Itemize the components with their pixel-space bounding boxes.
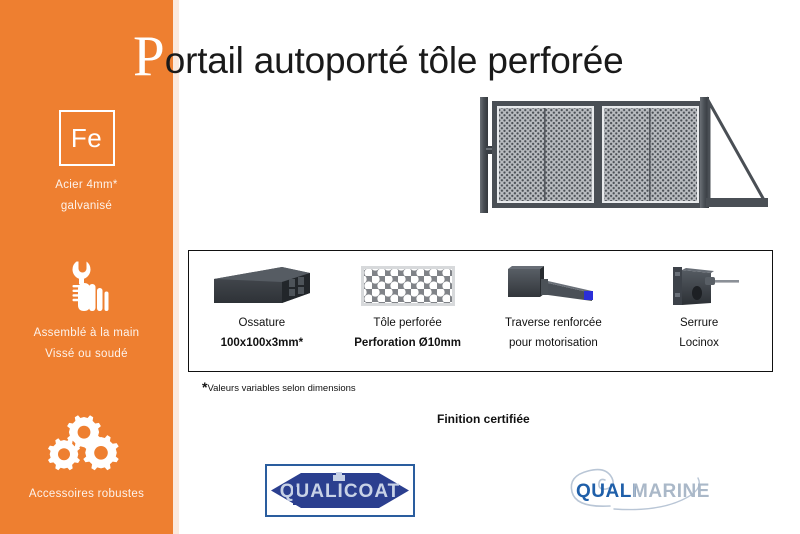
gate-counterweight-diagonal <box>709 102 764 200</box>
svg-text:QUALICOAT: QUALICOAT <box>280 481 401 502</box>
feature-ossature-spec: 100x100x3mm* <box>221 335 304 352</box>
sidebar-item-assembly: Assemblé à la main Vissé ou soudé <box>0 258 173 365</box>
frame-profile-icon <box>210 260 314 312</box>
fe-symbol: Fe <box>71 125 102 151</box>
feature-serrure-spec: Locinox <box>679 335 719 352</box>
cantilever-sliding-gate-illustration <box>472 88 790 218</box>
footnote: *Valeurs variables selon dimensions <box>202 379 356 395</box>
gears-icon <box>44 415 130 477</box>
gate-bottom-rail <box>706 198 768 207</box>
feature-serrure: Serrure Locinox <box>626 251 772 371</box>
page-title-capital: P <box>133 28 165 85</box>
feature-traverse: Traverse renforcée pour motorisation <box>481 251 627 371</box>
feature-traverse-caption: Traverse renforcée <box>505 315 602 332</box>
qualimarine-text-secondary: MARINE <box>632 481 710 502</box>
feature-traverse-spec: pour motorisation <box>509 335 598 352</box>
sidebar-item-assembly-label-1: Assemblé à la main <box>0 323 173 344</box>
qualicoat-logo: QUALICOAT <box>265 464 415 517</box>
feature-ossature: Ossature 100x100x3mm* <box>189 251 335 371</box>
feature-tole-spec: Perforation Ø10mm <box>354 335 461 352</box>
reinforced-crossbeam-icon <box>498 260 608 312</box>
hand-wrench-icon <box>58 258 116 316</box>
gate-panel-2-mullion <box>649 108 651 201</box>
certification-heading: Finition certifiée <box>437 412 530 426</box>
feature-tole-caption: Tôle perforée <box>373 315 441 332</box>
features-panel: Ossature 100x100x3mm* Tôl <box>188 250 773 372</box>
product-sheet: Fe Acier 4mm* galvanisé Assemblé à la ma… <box>0 0 800 534</box>
feature-tole-perforee: Tôle perforée Perforation Ø10mm <box>335 251 481 371</box>
gate-panel-1-mullion <box>544 108 546 201</box>
gate-left-post <box>480 97 488 213</box>
qualimarine-text-primary: QUALI <box>576 481 638 502</box>
feature-serrure-caption: Serrure <box>680 315 718 332</box>
fe-element-icon: Fe <box>59 110 115 166</box>
sidebar-item-steel: Fe Acier 4mm* galvanisé <box>0 110 173 217</box>
lock-icon <box>653 260 745 312</box>
page-title: P ortail autoporté tôle perforée <box>133 26 624 82</box>
feature-ossature-caption: Ossature <box>239 315 286 332</box>
page-title-text: ortail autoporté tôle perforée <box>165 42 624 79</box>
sidebar-item-steel-label-2: galvanisé <box>0 196 173 217</box>
qualimarine-logo: QUALI MARINE <box>558 462 718 516</box>
sidebar-item-accessories-label-1: Accessoires robustes <box>0 484 173 505</box>
footnote-text: Valeurs variables selon dimensions <box>207 383 355 394</box>
perforated-sheet-icon <box>359 260 457 312</box>
sidebar-item-assembly-label-2: Vissé ou soudé <box>0 344 173 365</box>
sidebar-item-accessories: Accessoires robustes <box>0 415 173 505</box>
sidebar-item-steel-label-1: Acier 4mm* <box>0 175 173 196</box>
